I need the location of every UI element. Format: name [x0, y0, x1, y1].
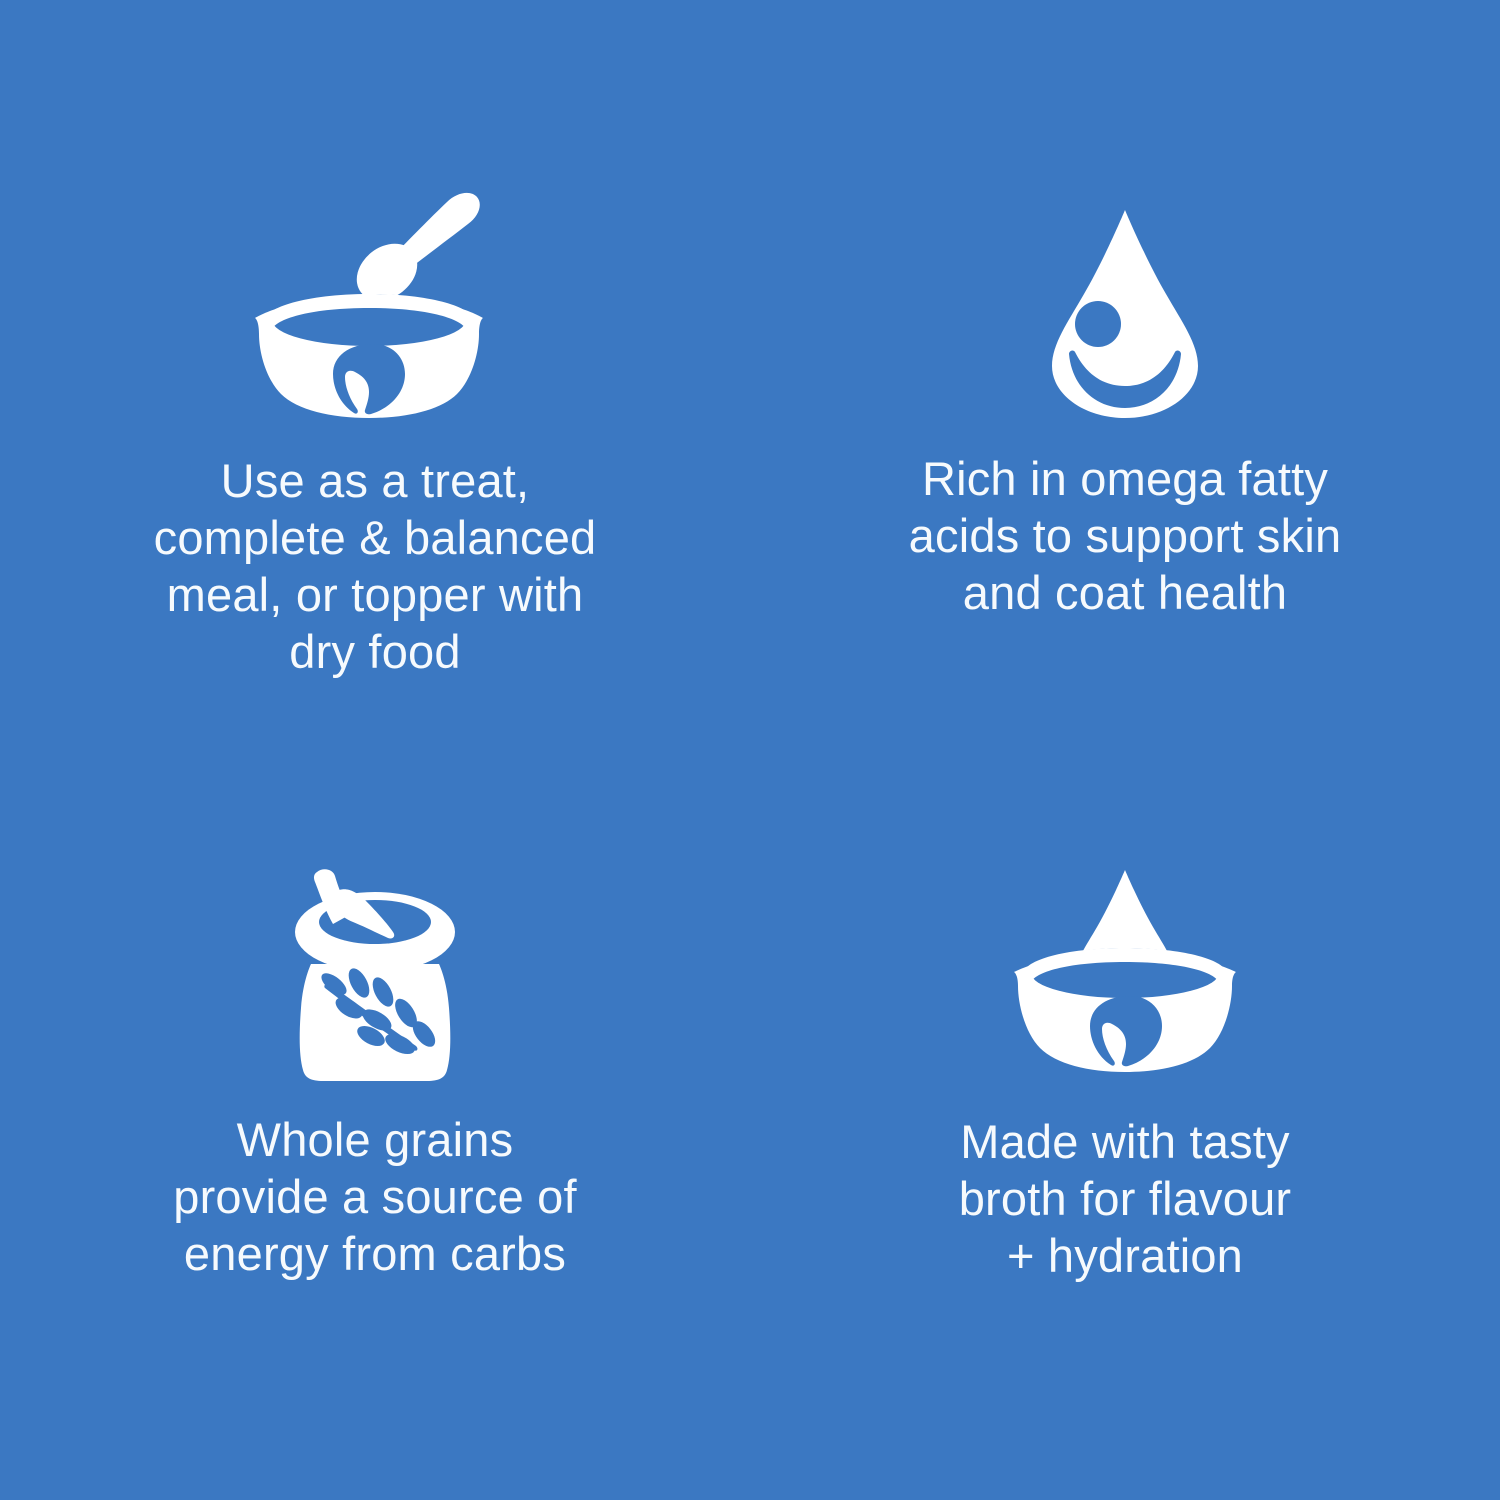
benefit-label: Made with tasty broth for flavour + hydr…	[959, 1113, 1292, 1284]
benefit-label: Use as a treat, complete & balanced meal…	[154, 452, 597, 680]
benefit-item-tasty-broth: Made with tasty broth for flavour + hydr…	[750, 750, 1500, 1500]
grain-sack-with-scoop-icon	[289, 868, 461, 1083]
benefit-item-omega-fatty-acids: Rich in omega fatty acids to support ski…	[750, 0, 1500, 750]
icon-container	[1052, 190, 1198, 418]
benefit-label: Rich in omega fatty acids to support ski…	[909, 450, 1342, 621]
icon-container	[289, 858, 461, 1083]
icon-container	[245, 168, 505, 418]
benefit-item-use-as-treat: Use as a treat, complete & balanced meal…	[0, 0, 750, 750]
benefits-grid: Use as a treat, complete & balanced meal…	[0, 0, 1500, 1500]
bowl-with-spoon-icon	[245, 168, 505, 418]
bowl-with-droplet-icon	[1010, 868, 1240, 1083]
smiling-water-droplet-icon	[1052, 210, 1198, 418]
icon-container	[1010, 858, 1240, 1083]
benefit-label: Whole grains provide a source of energy …	[173, 1111, 577, 1282]
benefit-item-whole-grains: Whole grains provide a source of energy …	[0, 750, 750, 1500]
